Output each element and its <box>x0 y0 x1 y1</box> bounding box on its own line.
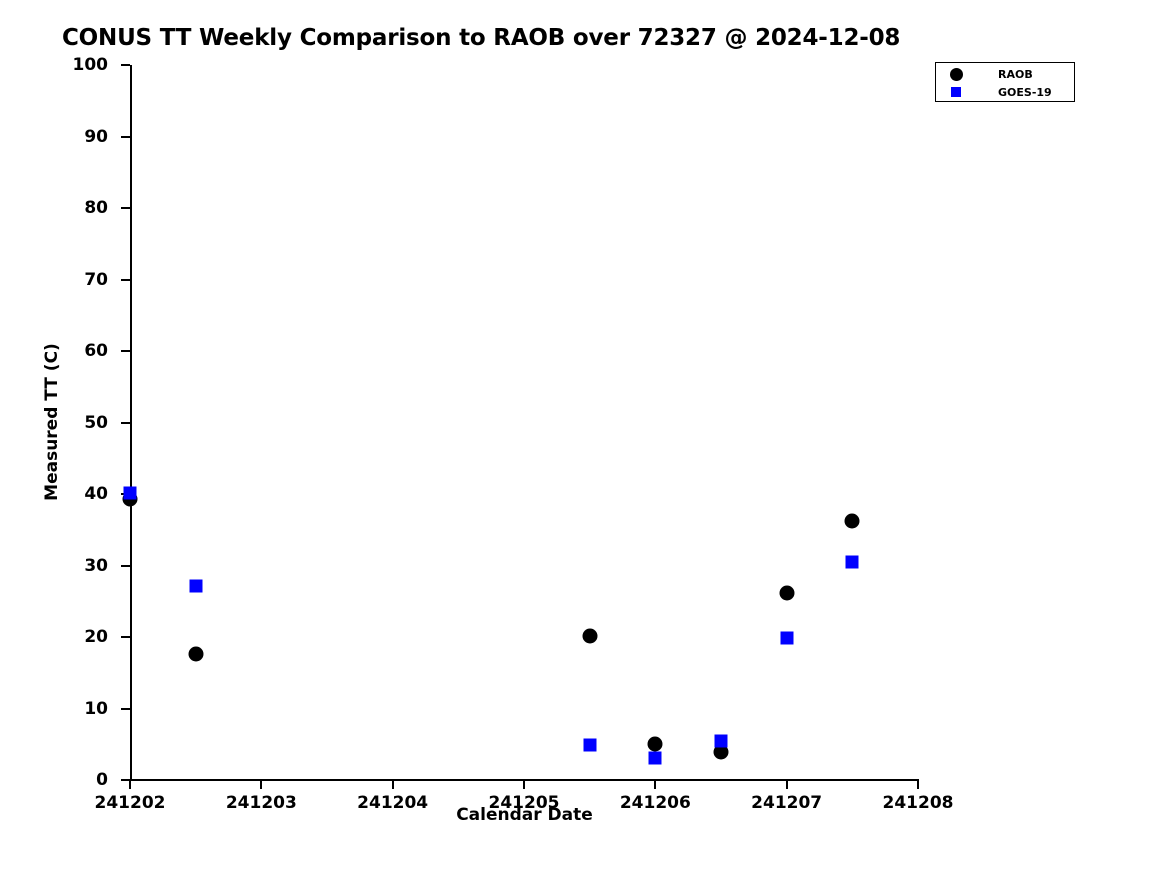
page-title: CONUS TT Weekly Comparison to RAOB over … <box>62 25 900 51</box>
y-tick-label: 60 <box>84 341 108 361</box>
legend-item-raob: RAOB <box>936 65 1074 83</box>
legend-item-goes-19: GOES-19 <box>936 83 1074 101</box>
legend-label: GOES-19 <box>998 86 1052 99</box>
y-tick-mark: 20 <box>121 636 130 638</box>
y-tick-label: 70 <box>84 270 108 290</box>
plot-area: 0102030405060708090100 24120224120324120… <box>130 65 918 780</box>
y-tick-label: 20 <box>84 627 108 647</box>
data-point-goes-19 <box>124 486 137 499</box>
data-point-goes-19 <box>715 735 728 748</box>
data-point-raob <box>188 647 203 662</box>
data-point-raob <box>582 629 597 644</box>
data-point-goes-19 <box>649 751 662 764</box>
y-tick-label: 80 <box>84 198 108 218</box>
y-axis-label: Measured TT (C) <box>42 343 62 501</box>
legend-label: RAOB <box>998 68 1033 81</box>
data-point-goes-19 <box>189 579 202 592</box>
x-tick-mark: 241207 <box>786 780 788 789</box>
y-tick-label: 90 <box>84 127 108 147</box>
y-tick-mark: 70 <box>121 279 130 281</box>
y-tick-mark: 80 <box>121 207 130 209</box>
y-tick-mark: 50 <box>121 422 130 424</box>
x-tick-mark: 241202 <box>129 780 131 789</box>
y-tick-mark: 30 <box>121 565 130 567</box>
x-tick-mark: 241206 <box>654 780 656 789</box>
legend-marker-circle-icon <box>936 68 976 81</box>
data-point-raob <box>845 514 860 529</box>
y-tick-label: 10 <box>84 699 108 719</box>
y-tick-label: 0 <box>96 770 108 790</box>
y-tick-label: 100 <box>73 55 109 75</box>
data-point-goes-19 <box>846 555 859 568</box>
data-point-goes-19 <box>780 632 793 645</box>
x-tick-mark: 241204 <box>392 780 394 789</box>
y-tick-mark: 100 <box>121 64 130 66</box>
chart-legend: RAOBGOES-19 <box>935 62 1075 102</box>
x-tick-mark: 241208 <box>917 780 919 789</box>
y-tick-mark: 60 <box>121 350 130 352</box>
square-icon <box>951 87 961 97</box>
x-axis-label: Calendar Date <box>130 805 919 825</box>
y-tick-label: 30 <box>84 556 108 576</box>
y-tick-label: 40 <box>84 484 108 504</box>
data-point-raob <box>779 585 794 600</box>
legend-marker-square-icon <box>936 87 976 97</box>
data-point-goes-19 <box>583 738 596 751</box>
x-tick-mark: 241203 <box>260 780 262 789</box>
x-tick-mark: 241205 <box>523 780 525 789</box>
data-point-raob <box>648 737 663 752</box>
y-tick-mark: 90 <box>121 136 130 138</box>
figure-canvas: CONUS TT Weekly Comparison to RAOB over … <box>0 0 1167 875</box>
y-tick-mark: 10 <box>121 708 130 710</box>
y-tick-label: 50 <box>84 413 108 433</box>
circle-icon <box>950 68 963 81</box>
